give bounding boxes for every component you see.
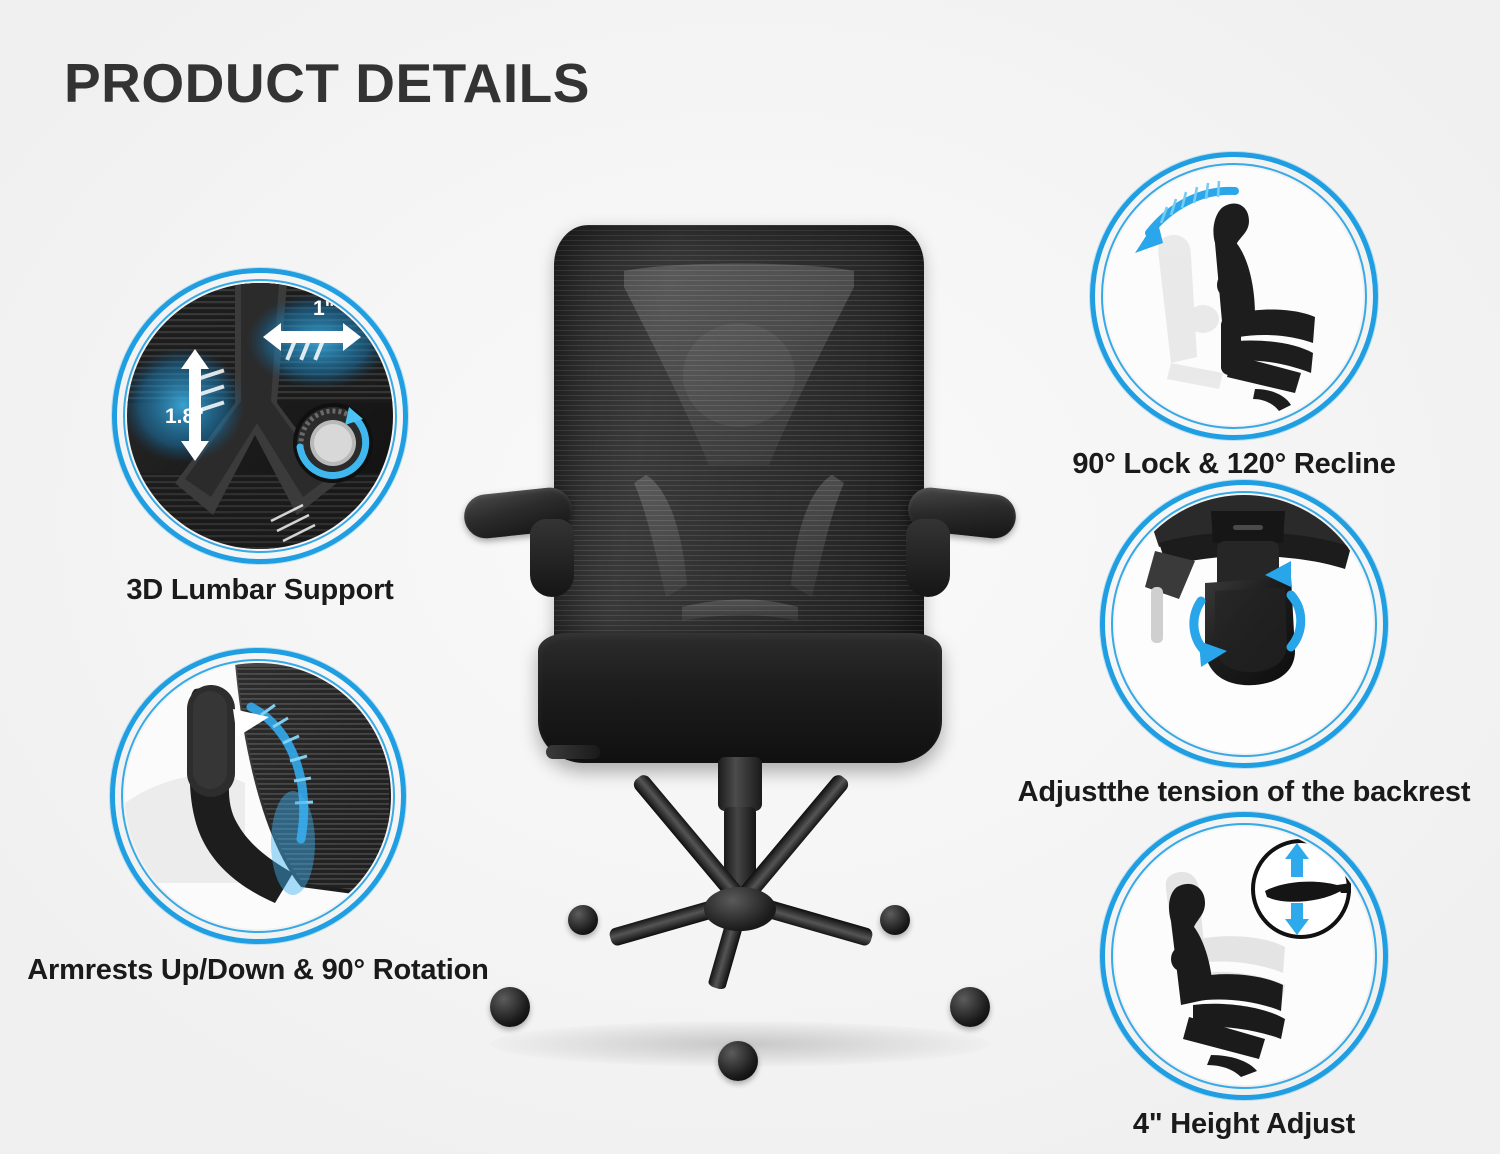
flip-up-armrest-left [464, 491, 584, 591]
callout-tension: Adjustthe tension of the backrest [1100, 480, 1388, 768]
callout-circle [110, 648, 406, 944]
callout-caption-recline: 90° Lock & 120° Recline [1072, 448, 1395, 481]
callout-ring-inner [1101, 163, 1367, 429]
main-product-image [450, 205, 1030, 1105]
callout-caption-tension: Adjustthe tension of the backrest [1018, 776, 1471, 809]
caster [490, 987, 530, 1027]
seat-cushion [538, 633, 942, 763]
callout-circle [1090, 152, 1378, 440]
product-details-page: PRODUCT DETAILS [0, 0, 1500, 1154]
flip-up-armrest-right [896, 491, 1016, 591]
callout-ring-inner [1111, 823, 1377, 1089]
callout-ring-inner [121, 659, 395, 933]
armrest-post-right [906, 519, 950, 597]
callout-circle [1100, 480, 1388, 768]
callout-ring-inner [1111, 491, 1377, 757]
callout-recline: 90° Lock & 120° Recline [1090, 152, 1378, 440]
page-title: PRODUCT DETAILS [64, 56, 590, 111]
callout-caption-height: 4" Height Adjust [1133, 1108, 1355, 1141]
callout-circle: 1.8" 1" [112, 268, 408, 564]
callout-caption-lumbar: 3D Lumbar Support [126, 574, 393, 607]
callout-armrests: Armrests Up/Down & 90° Rotation [110, 648, 406, 944]
seat-height-lever [546, 745, 600, 759]
armrest-post-left [530, 519, 574, 597]
base-hub [704, 887, 776, 931]
callout-circle [1100, 812, 1388, 1100]
gas-cylinder-upper [718, 757, 762, 811]
callout-caption-armrests: Armrests Up/Down & 90° Rotation [27, 954, 488, 987]
caster [880, 905, 910, 935]
caster [718, 1041, 758, 1081]
mesh-backrest [554, 225, 924, 655]
callout-lumbar-support: 1.8" 1" [112, 268, 408, 564]
mesh-butterfly-pattern [554, 225, 924, 655]
caster [950, 987, 990, 1027]
caster [568, 905, 598, 935]
callout-height-adjust: 4" Height Adjust [1100, 812, 1388, 1100]
callout-ring-inner [123, 279, 397, 553]
